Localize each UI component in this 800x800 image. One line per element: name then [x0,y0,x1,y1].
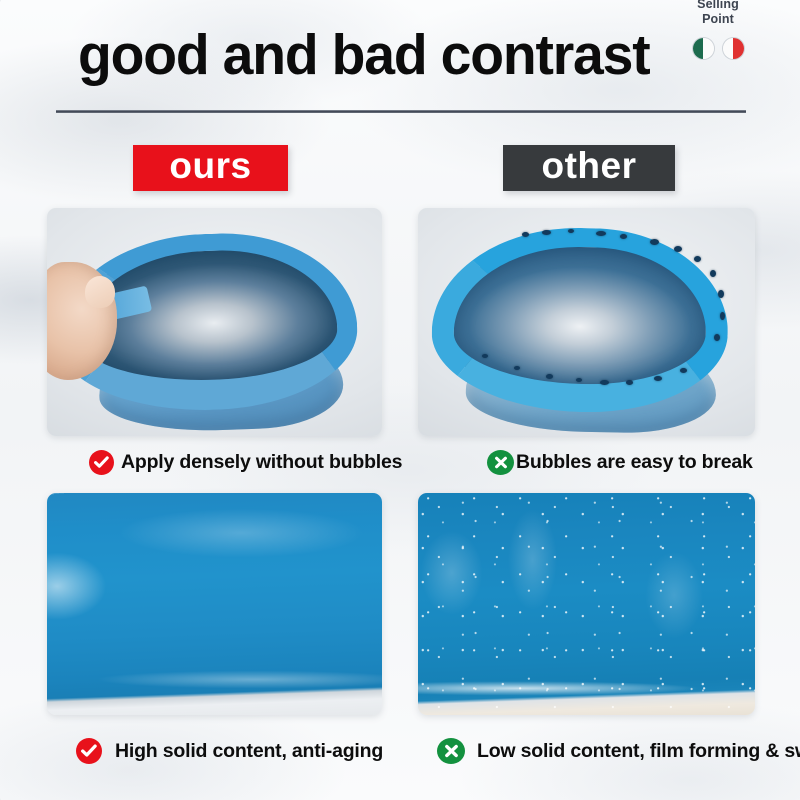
flag-circle-white-red-icon [723,38,744,59]
membrane-loop-bad [418,208,755,436]
caption-other-bubbles-break: Bubbles are easy to break [487,450,753,475]
cross-icon [487,450,514,475]
coating-film-smooth [47,493,382,715]
caption-text: High solid content, anti-aging [115,740,383,763]
badge-other: other [503,145,675,191]
flag-stripe-green [693,38,704,59]
cross-icon [437,738,465,764]
film-speckle-overlay [418,493,755,715]
flag-circle-green-white-icon [693,38,714,59]
caption-other-low-solid: Low solid content, film forming & swelli… [437,738,800,764]
photo-ours-no-bubbles [47,208,382,436]
page-header: good and bad contrast Selling Point [0,0,800,120]
flag-stripe-white [703,38,714,59]
badge-ours: ours [133,145,288,191]
selling-point-line-1: Selling [683,0,753,12]
caption-text: Low solid content, film forming & swelli… [477,740,800,763]
page-title: good and bad contrast [78,16,649,94]
flag-stripe-white [723,38,734,59]
caption-ours-no-bubbles: Apply densely without bubbles [89,450,402,475]
selling-point-line-2: Point [683,12,753,27]
photo-other-low-solid-film [418,493,755,715]
photo-ours-high-solid-film [47,493,382,715]
flag-stripe-red [733,38,744,59]
product-comparison-page: good and bad contrast Selling Point ours… [0,0,800,800]
coating-film-bubbly [418,493,755,715]
photo-other-with-bubbles [418,208,755,436]
check-icon [89,450,114,475]
title-divider [56,110,746,113]
badge-ours-label: ours [169,145,251,187]
flag-icons [680,38,756,59]
membrane-loop-good [47,208,382,436]
selling-point-label: Selling Point [683,0,753,27]
membrane-rim [430,225,729,414]
check-icon [76,738,102,764]
caption-text: Bubbles are easy to break [516,451,753,474]
caption-ours-high-solid: High solid content, anti-aging [76,738,383,764]
badge-other-label: other [542,145,637,187]
caption-text: Apply densely without bubbles [121,451,402,474]
